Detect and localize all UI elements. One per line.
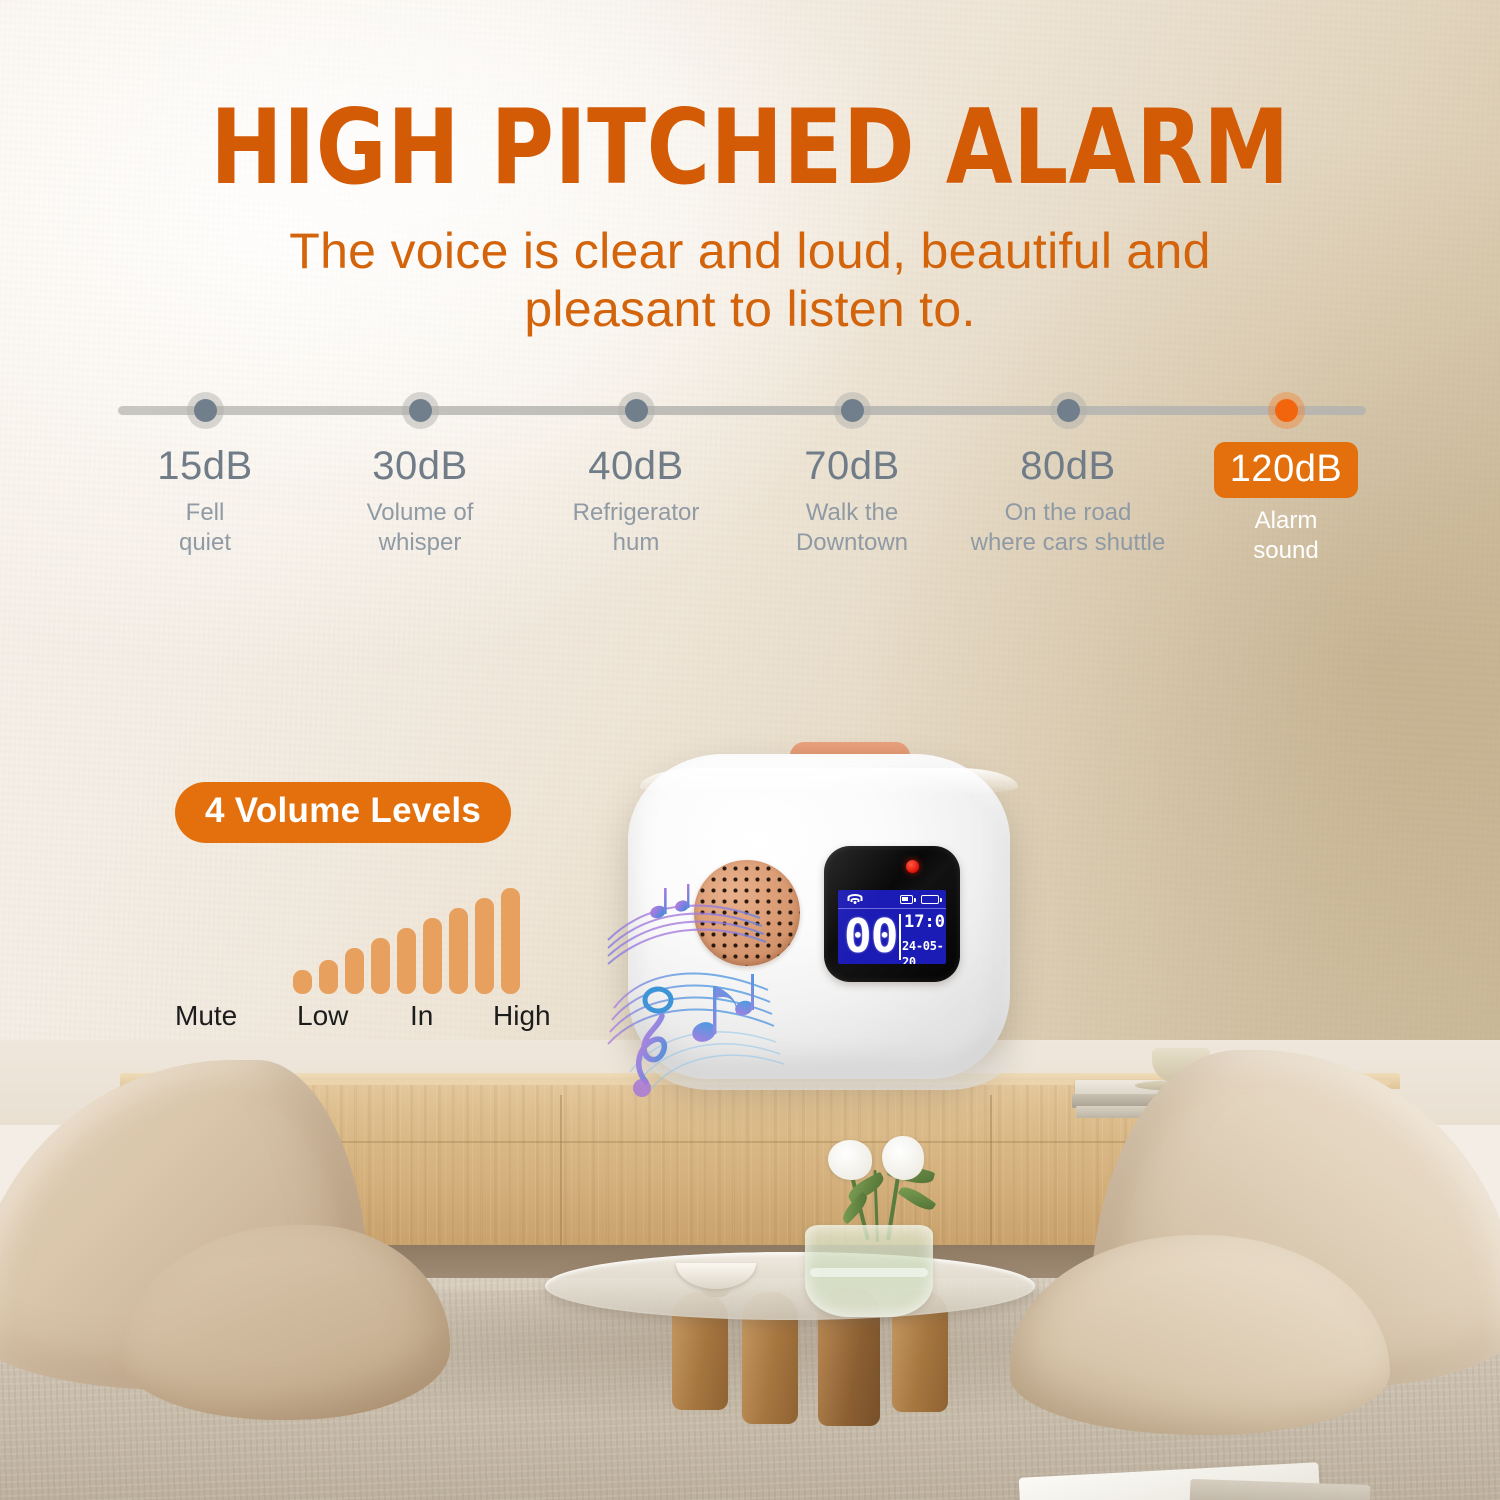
scale-db-value: 15dB [90,442,320,490]
scale-db-description: On the roadwhere cars shuttle [953,498,1183,558]
scale-db-value: 30dB [305,442,535,490]
sideboard-seam [560,1095,562,1245]
scale-tick: 15dBFellquiet [90,442,320,558]
volume-bar [501,888,520,994]
scale-tick: 30dBVolume ofwhisper [305,442,535,558]
volume-levels-section: 4 Volume Levels MuteLowInHigh [175,782,575,1042]
page-subtitle: The voice is clear and loud, beautiful a… [250,222,1250,338]
volume-bar [397,928,416,994]
volume-label-low: Low [297,1000,348,1032]
volume-axis-labels: MuteLowInHigh [175,1000,575,1034]
volume-bar [423,918,442,994]
scale-tick: 40dBRefrigeratorhum [521,442,751,558]
speaker-perforations [694,860,800,966]
scale-tick: 70dBWalk theDowntown [737,442,967,558]
scale-desc-line: Alarm [1171,506,1401,536]
scale-db-description: Alarmsound [1171,506,1401,566]
scale-db-description: Fellquiet [90,498,320,558]
product-marketing-image: HIGH PITCHED ALARM The voice is clear an… [0,0,1500,1500]
device-bottom-shading [642,1046,1016,1090]
scale-desc-line: Walk the [737,498,967,528]
white-flower [882,1136,924,1180]
scale-dot-core-icon [1057,399,1080,422]
volume-bar [293,970,312,994]
volume-label-in: In [410,1000,433,1032]
device-body: 00 17:07 24-05-20 [628,754,1010,1079]
speaker-grille-icon [694,860,800,966]
volume-label-mute: Mute [175,1000,237,1032]
scale-desc-line: Refrigerator [521,498,751,528]
sideboard-seam [990,1095,992,1245]
scale-dot-core-icon [841,399,864,422]
scale-desc-line: Downtown [737,528,967,558]
volume-bar-chart [293,882,533,994]
scale-db-description: Walk theDowntown [737,498,967,558]
vase-water-line [810,1268,928,1277]
scale-db-value: 40dB [521,442,751,490]
scale-desc-line: where cars shuttle [953,528,1183,558]
scale-desc-line: whisper [305,528,535,558]
scale-db-value: 80dB [953,442,1183,490]
scale-dot-core-icon [1275,399,1298,422]
scale-db-value: 70dB [737,442,967,490]
scale-dot-core-icon [194,399,217,422]
volume-bar [449,908,468,994]
scale-desc-line: Fell [90,498,320,528]
volume-label-high: High [493,1000,551,1032]
decibel-scale: 15dBFellquiet30dBVolume ofwhisper40dBRef… [0,380,1500,610]
scale-db-description: Refrigeratorhum [521,498,751,558]
living-room-scene [0,1040,1500,1500]
volume-bar [371,938,390,994]
device-top-highlight [640,768,1018,796]
white-flower [828,1140,872,1180]
scale-desc-line: quiet [90,528,320,558]
scale-desc-line: sound [1171,536,1401,566]
volume-bar [475,898,494,994]
scale-desc-line: Volume of [305,498,535,528]
scale-db-description: Volume ofwhisper [305,498,535,558]
scale-desc-line: On the road [953,498,1183,528]
volume-bar [319,960,338,994]
scale-dot-core-icon [409,399,432,422]
scale-dot-core-icon [625,399,648,422]
device-display-panel[interactable]: 00 17:07 24-05-20 [824,846,960,982]
scale-desc-line: hum [521,528,751,558]
scale-db-value: 120dB [1214,442,1358,498]
volume-levels-badge: 4 Volume Levels [175,782,511,843]
scale-tick: 120dBAlarmsound [1171,442,1401,566]
scale-track [118,406,1366,415]
alarm-device: 00 17:07 24-05-20 [618,742,1018,1082]
coffee-table-glass-top [545,1252,1035,1320]
scale-tick: 80dBOn the roadwhere cars shuttle [953,442,1183,558]
page-title: HIGH PITCHED ALARM [45,88,1455,208]
volume-bar [345,948,364,994]
